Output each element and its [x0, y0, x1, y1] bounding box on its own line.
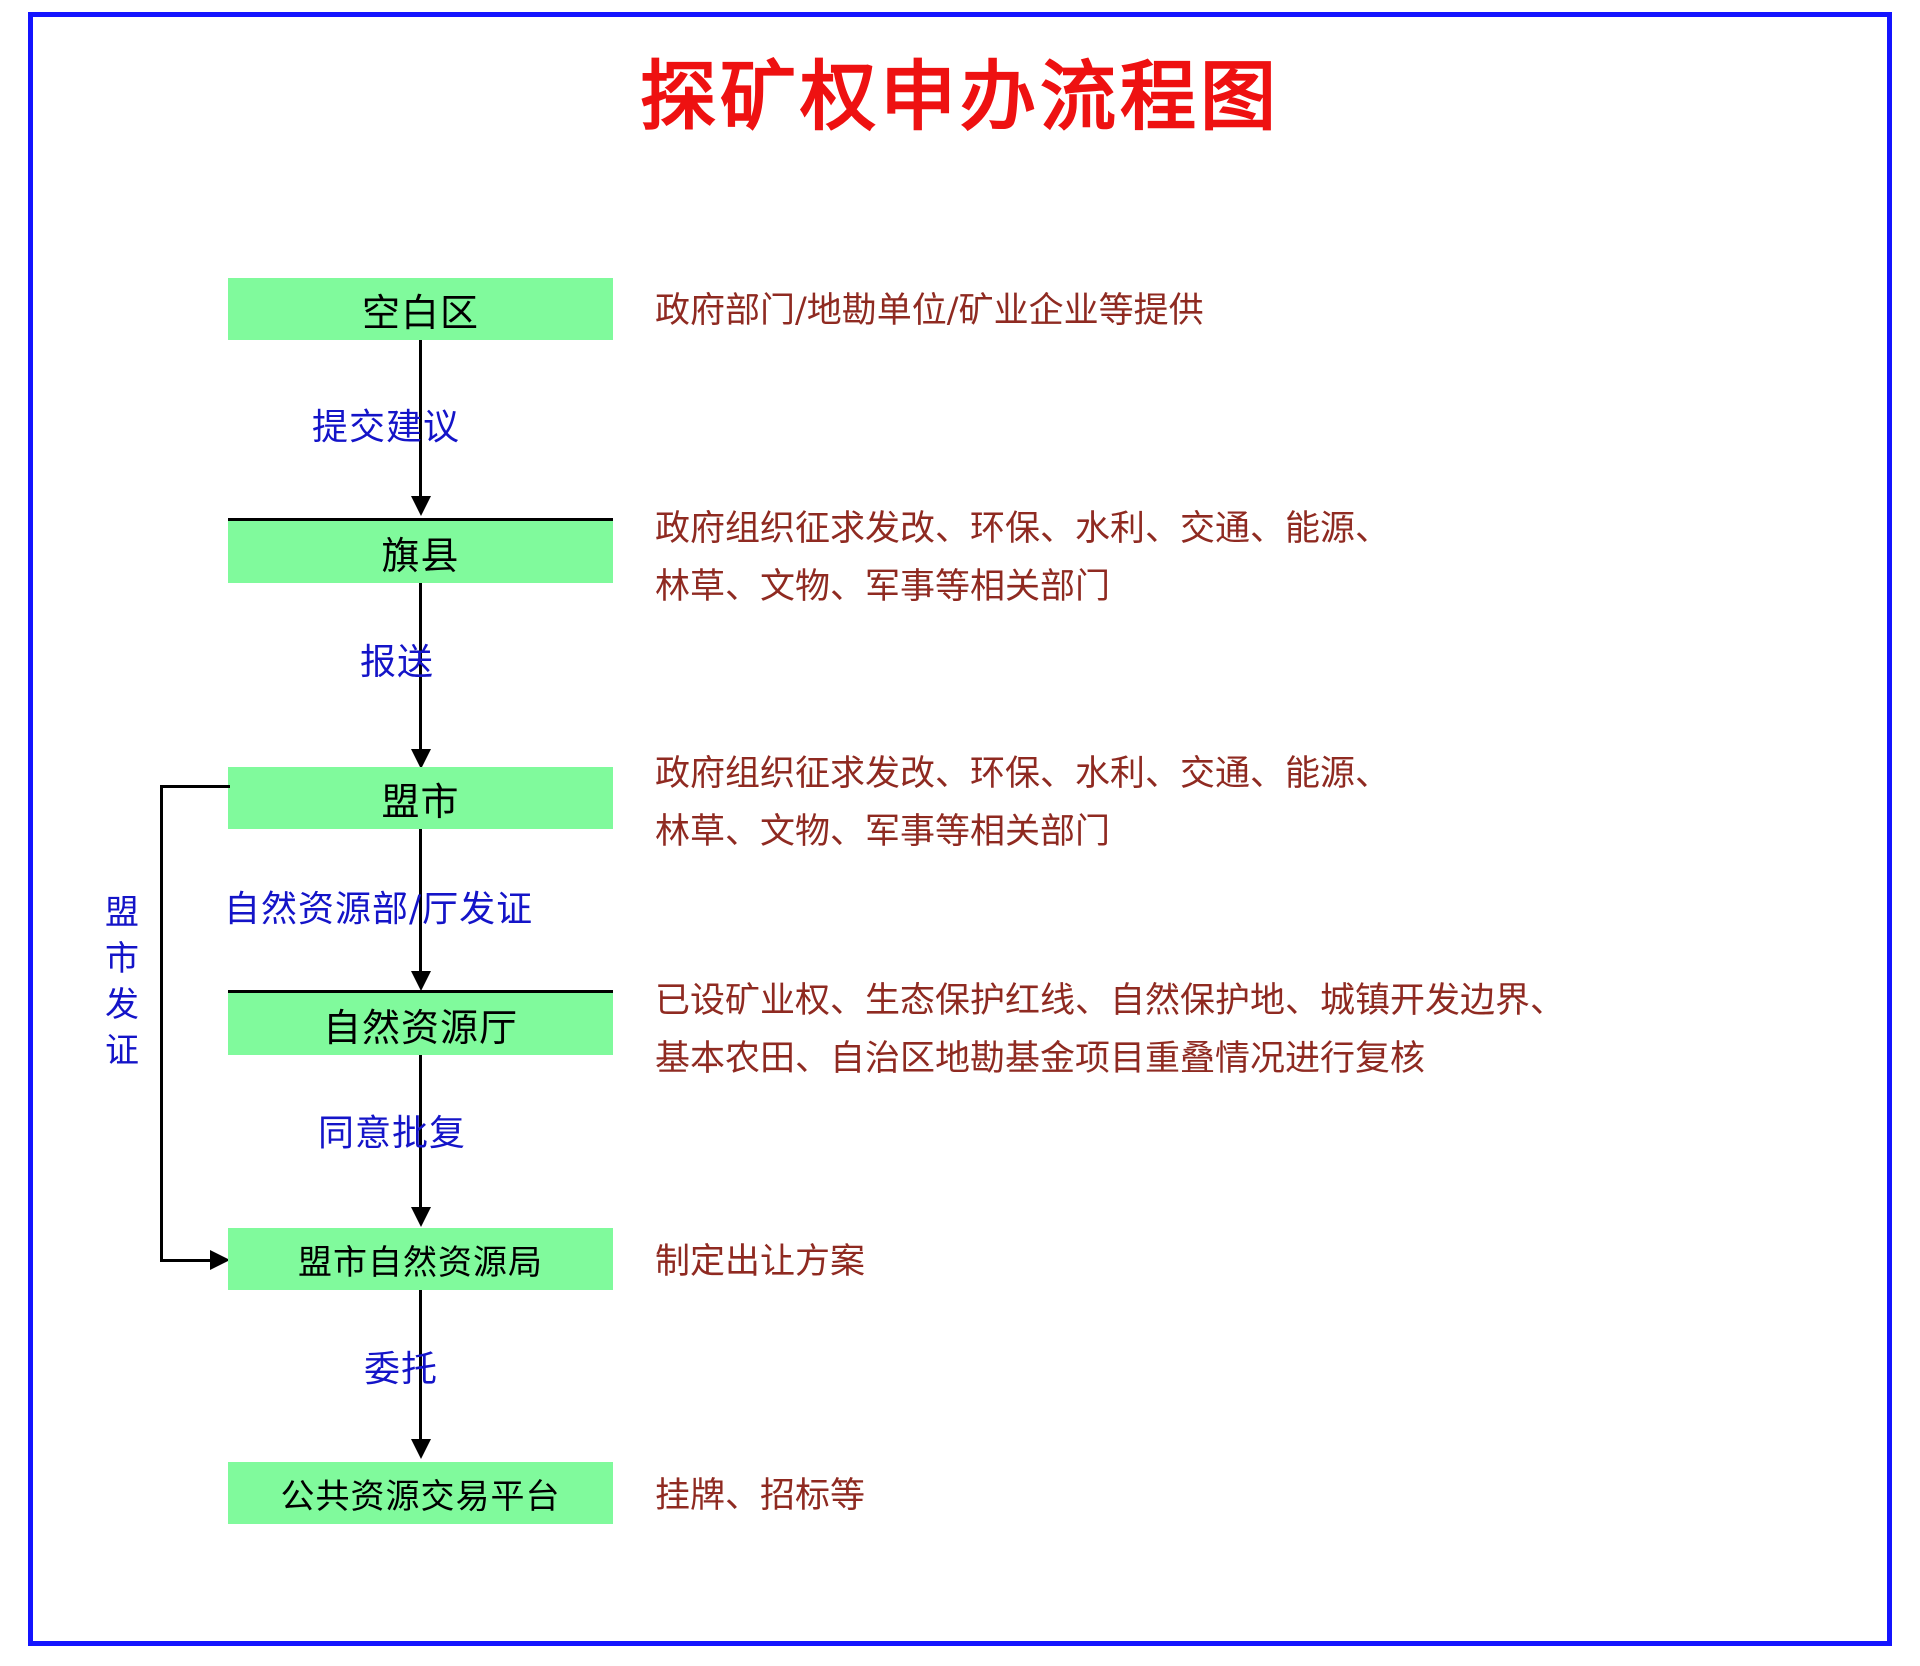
arrowhead-blank-to-county [411, 496, 431, 516]
node-league-city-label: 盟市 [381, 771, 459, 826]
node-banner-county[interactable]: 旗县 [228, 521, 613, 583]
node-banner-county-label: 旗县 [381, 525, 459, 580]
node-blank-area[interactable]: 空白区 [228, 278, 613, 340]
edge-label-entrust: 委托 [364, 1340, 438, 1392]
node-public-trading-platform[interactable]: 公共资源交易平台 [228, 1462, 613, 1524]
desc-banner-county-line-2: 林草、文物、军事等相关部门 [655, 558, 1110, 616]
edge-label-ministry-issue: 自然资源部/厅发证 [224, 880, 533, 932]
arrowhead-county-to-city [411, 749, 431, 769]
node-natural-resources-dept[interactable]: 自然资源厅 [228, 993, 613, 1055]
desc-natural-resources-dept-line-1: 已设矿业权、生态保护红线、自然保护地、城镇开发边界、 [655, 972, 1565, 1030]
desc-natural-resources-dept-line-2: 基本农田、自治区地勘基金项目重叠情况进行复核 [655, 1030, 1425, 1088]
connector-league-issue-bottom [160, 1259, 215, 1262]
node-natural-resources-dept-label: 自然资源厅 [323, 997, 518, 1052]
connector-league-issue-side [160, 785, 163, 1262]
node-public-trading-platform-label: 公共资源交易平台 [281, 1469, 561, 1518]
edge-label-submit-proposal: 提交建议 [312, 398, 460, 450]
arrowhead-dept-to-bureau [411, 1207, 431, 1227]
node-league-city-bureau[interactable]: 盟市自然资源局 [228, 1228, 613, 1290]
desc-league-city-line-2: 林草、文物、军事等相关部门 [655, 803, 1110, 861]
node-blank-area-label: 空白区 [362, 282, 479, 337]
connector-league-issue-top [160, 785, 230, 788]
node-league-city-bureau-label: 盟市自然资源局 [298, 1235, 543, 1284]
desc-league-city-bureau-line-1: 制定出让方案 [655, 1233, 865, 1291]
desc-blank-area-line-1: 政府部门/地勘单位/矿业企业等提供 [655, 282, 1204, 340]
edge-label-league-issue: 盟市发证 [100, 890, 144, 1074]
arrowhead-city-to-dept [411, 971, 431, 991]
node-league-city[interactable]: 盟市 [228, 767, 613, 829]
edge-label-approval: 同意批复 [318, 1104, 466, 1156]
page-title: 探矿权申办流程图 [0, 55, 1920, 139]
desc-public-trading-platform-line-1: 挂牌、招标等 [655, 1467, 865, 1525]
desc-banner-county-line-1: 政府组织征求发改、环保、水利、交通、能源、 [655, 500, 1390, 558]
arrowhead-bureau-to-platform [411, 1439, 431, 1459]
desc-league-city-line-1: 政府组织征求发改、环保、水利、交通、能源、 [655, 745, 1390, 803]
flowchart-page: 探矿权申办流程图 空白区 政府部门/地勘单位/矿业企业等提供 提交建议 旗县 政… [0, 0, 1920, 1666]
edge-label-report: 报送 [360, 633, 434, 685]
arrowhead-league-issue [210, 1250, 230, 1270]
